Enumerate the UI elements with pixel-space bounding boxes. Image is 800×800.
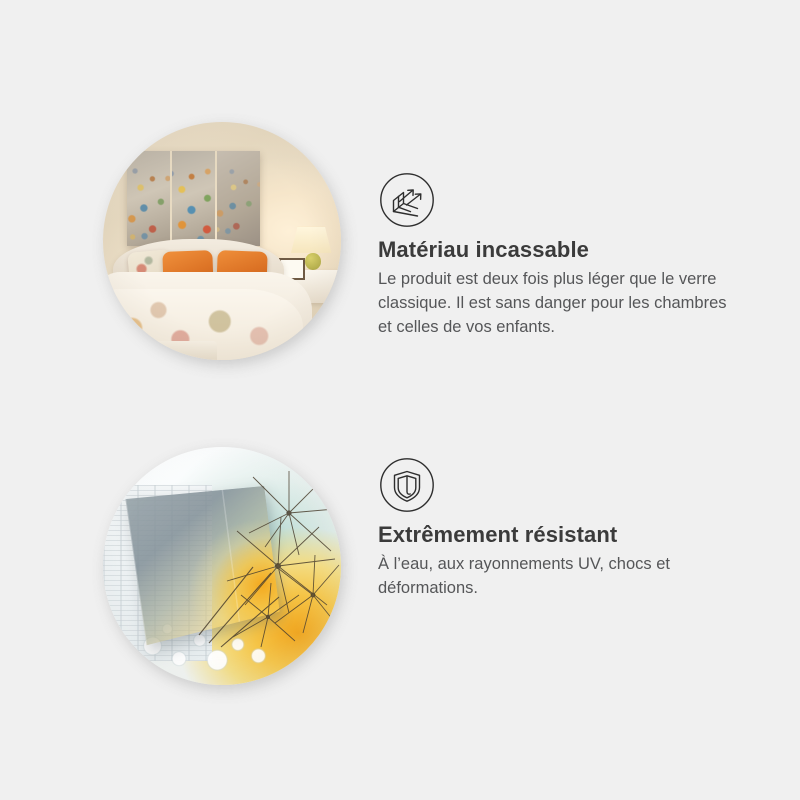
art-panel-left [127, 151, 170, 246]
shield-icon [379, 457, 435, 513]
bedroom-scene [103, 122, 341, 360]
feature-title: Matériau incassable [378, 238, 758, 262]
product-photo-dandelion [103, 447, 341, 685]
bed-frame [122, 341, 217, 360]
circular-photo-frame [103, 122, 341, 360]
lamp-base [305, 253, 320, 270]
feature-page: Matériau incassable Le produit est deux … [0, 0, 800, 800]
feature-block-material: Matériau incassable Le produit est deux … [0, 110, 800, 370]
feature-block-resistant: Extrêmement résistant À l’eau, aux rayon… [0, 435, 800, 695]
art-panel-right [217, 151, 260, 246]
bendable-sheet-arrows-icon [379, 172, 435, 228]
wall-art-triptych [127, 151, 260, 246]
circular-photo-frame [103, 447, 341, 685]
feature-text-material: Matériau incassable Le produit est deux … [378, 238, 758, 340]
feature-title: Extrêmement résistant [378, 523, 758, 547]
product-photo-bedroom [103, 122, 341, 360]
feature-description: À l’eau, aux rayonnements UV, chocs et d… [378, 553, 744, 601]
lamp-shade [291, 227, 331, 253]
feature-description: Le produit est deux fois plus léger que … [378, 268, 744, 340]
dandelion-glass-scene [103, 447, 341, 685]
art-panel-center [172, 151, 215, 246]
feature-text-resistant: Extrêmement résistant À l’eau, aux rayon… [378, 523, 758, 601]
